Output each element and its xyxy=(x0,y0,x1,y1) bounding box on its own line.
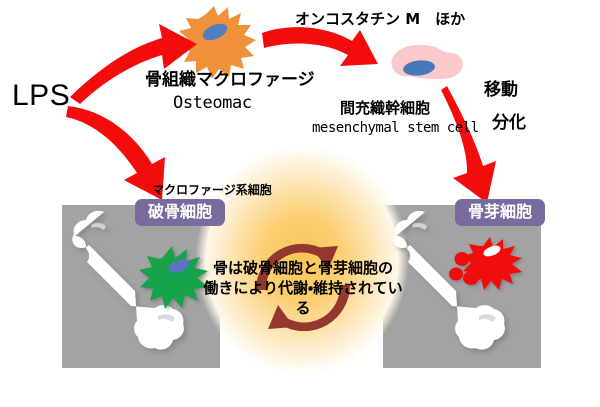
osteomac-label-jp: 骨組織マクロファージ xyxy=(145,70,315,90)
arrow-osteomac-to-stemcell xyxy=(262,27,378,66)
badge-osteoclast: 破骨細胞 xyxy=(135,199,225,226)
macrophage-lineage-label: マクロファージ系細胞 xyxy=(152,183,272,197)
mesenchymal-stem-cell xyxy=(391,45,462,79)
cycle-caption-line-2: 働きにより代謝・維持されている xyxy=(196,279,410,319)
oncostatin-m-label: オンコスタチン M ほか xyxy=(295,11,465,29)
arrow-lps-to-osteoclast xyxy=(66,106,165,200)
osteoblast-cell xyxy=(449,237,522,290)
differentiation-label: 分化 xyxy=(492,113,526,133)
migration-label: 移動 xyxy=(484,80,518,100)
cycle-caption-line-1: 骨は破骨細胞と骨芽細胞の xyxy=(196,259,410,279)
figure-canvas: LPS 骨組織マクロファージ Osteomac オンコスタチン M ほか 間充織… xyxy=(0,0,600,407)
arrow-lps-to-osteomac xyxy=(70,24,197,104)
mesenchymal-stem-cell-label-jp: 間充織幹細胞 xyxy=(340,100,430,118)
osteomac-label-en: Osteomac xyxy=(173,93,252,113)
cycle-caption: 骨は破骨細胞と骨芽細胞の 働きにより代謝・維持されている xyxy=(196,259,410,318)
mesenchymal-stem-cell-label-en: mesenchymal stem cell xyxy=(312,120,479,137)
lps-label: LPS xyxy=(12,78,70,113)
arrow-stemcell-to-osteoblast xyxy=(441,86,496,203)
badge-osteoblast: 骨芽細胞 xyxy=(455,199,545,226)
